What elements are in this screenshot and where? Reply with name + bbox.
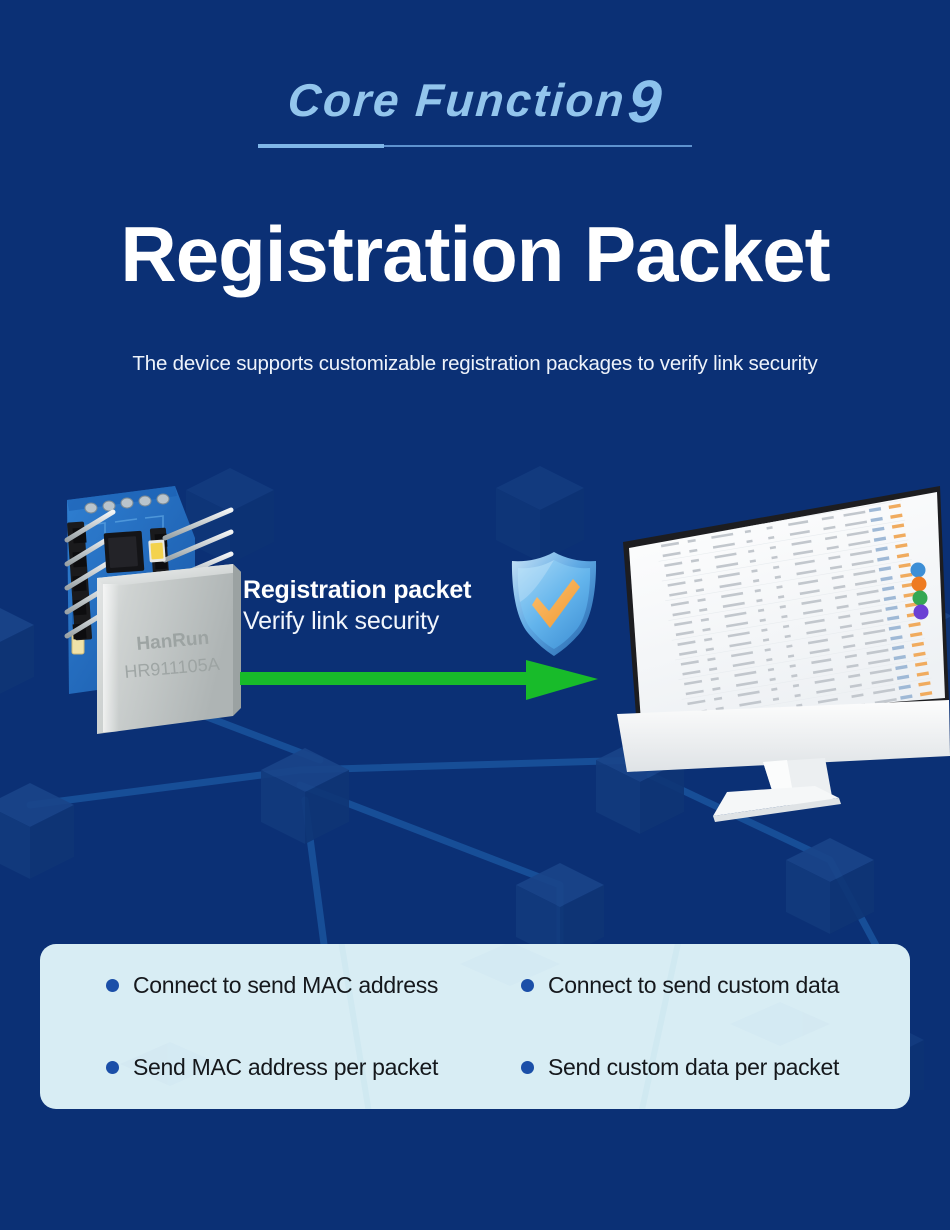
- led-component: [148, 539, 165, 562]
- kicker-label: Core Function: [287, 77, 628, 123]
- page-subtitle: The device supports customizable registr…: [0, 352, 950, 376]
- bullet-dot-icon: [106, 1061, 119, 1074]
- rj45-jack: HanRun HR911105A: [97, 564, 241, 734]
- kicker-underline: [258, 144, 692, 152]
- desktop-monitor-illustration: [615, 486, 950, 826]
- action-dot-blue[interactable]: [911, 563, 926, 578]
- feature-label: Connect to send custom data: [548, 972, 839, 999]
- flow-label: Registration packet Verify link security: [243, 575, 543, 636]
- bullet-dot-icon: [106, 979, 119, 992]
- bullet-dot-icon: [521, 979, 534, 992]
- shield-check-icon: [506, 549, 602, 659]
- kicker: Core Function9: [258, 72, 692, 152]
- underline-thin-segment: [384, 145, 692, 147]
- features-panel: Connect to send MAC address Connect to s…: [40, 944, 910, 1109]
- feature-label: Connect to send MAC address: [133, 972, 438, 999]
- list-item[interactable]: Send custom data per packet: [521, 1027, 910, 1110]
- arrow-right-icon: [236, 658, 601, 702]
- feature-label: Send MAC address per packet: [133, 1054, 438, 1081]
- action-dot-orange[interactable]: [912, 577, 927, 592]
- underline-thick-segment: [258, 144, 384, 148]
- illustration-scene: HanRun HR911105A Registration packet Ver…: [0, 450, 950, 840]
- list-item[interactable]: Connect to send MAC address: [106, 944, 521, 1027]
- ic-chip: [104, 531, 145, 574]
- feature-label: Send custom data per packet: [548, 1054, 839, 1081]
- kicker-number: 9: [626, 72, 664, 132]
- list-item[interactable]: Send MAC address per packet: [106, 1027, 521, 1110]
- flow-label-line1: Registration packet: [243, 575, 543, 606]
- header-block: Core Function9: [0, 72, 950, 152]
- flow-label-line2: Verify link security: [243, 606, 543, 637]
- action-dot-purple[interactable]: [914, 605, 929, 620]
- action-dot-green[interactable]: [913, 591, 928, 606]
- bullet-dot-icon: [521, 1061, 534, 1074]
- features-list: Connect to send MAC address Connect to s…: [40, 944, 910, 1109]
- page-title: Registration Packet: [0, 215, 950, 293]
- list-item[interactable]: Connect to send custom data: [521, 944, 910, 1027]
